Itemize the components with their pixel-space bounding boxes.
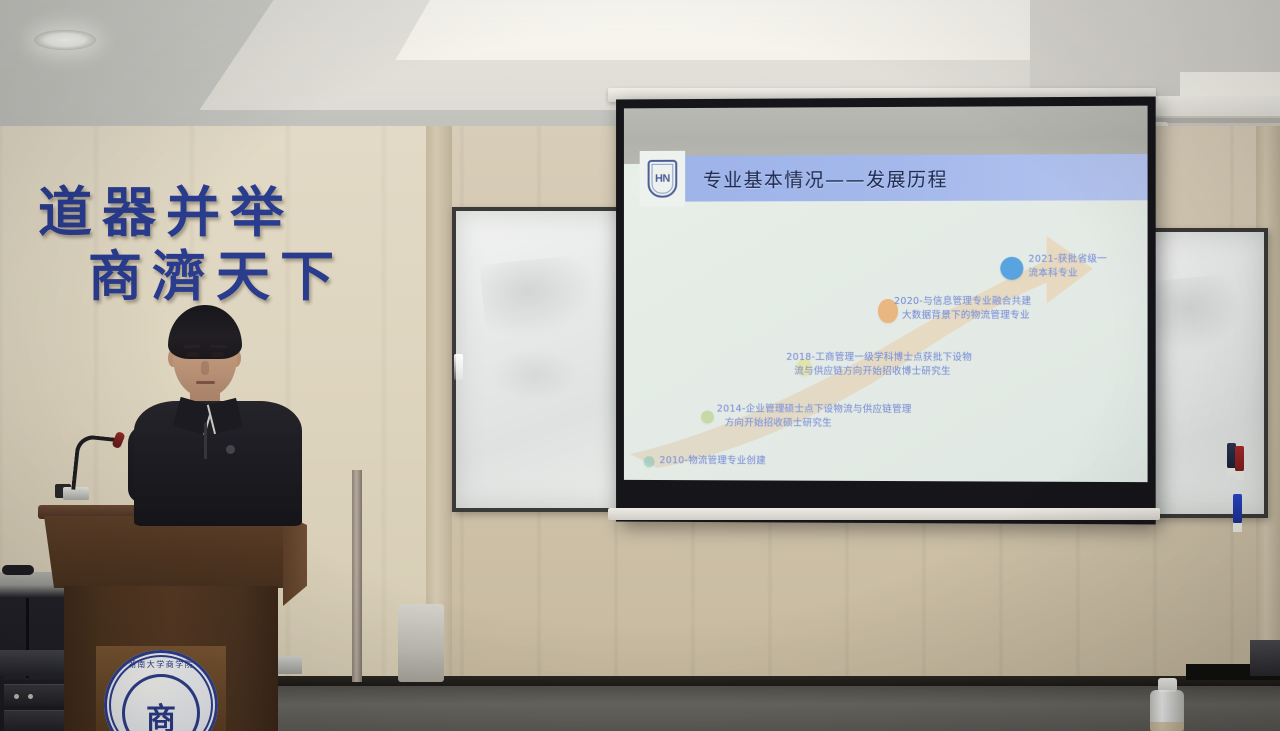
ceiling-downlight-icon (34, 30, 96, 50)
whiteboard-left[interactable] (452, 207, 628, 512)
water-bottle (1150, 678, 1184, 731)
eye (211, 352, 224, 357)
timeline-label-2014: 2014-企业管理硕士点下设物流与供应链管理 方向开始招收硕士研究生 (717, 403, 912, 430)
timeline-text-line2: 流本科专业 (1028, 266, 1107, 280)
av-led (28, 694, 33, 699)
projector-screen-bottom-bar (608, 508, 1160, 520)
podium-desk-surface (44, 516, 294, 588)
slide-logo: HN (640, 151, 685, 207)
lecture-hall-scene: 道器并举 商濟天下 专业基本情况——发展历程 HN (0, 0, 1280, 731)
red-marker-icon[interactable] (1235, 446, 1244, 472)
calligraphy-line-1: 道器并举 (30, 180, 390, 244)
whiteboard-smudge (1150, 273, 1247, 355)
timeline-text-line2: 方向开始招收硕士研究生 (717, 416, 912, 430)
timeline-label-2020: 2020-与信息管理专业融合共建 大数据背景下的物流管理专业 (894, 295, 1031, 322)
timeline-text-line2: 大数据背景下的物流管理专业 (894, 308, 1031, 322)
wall-calligraphy: 道器并举 商濟天下 (30, 180, 390, 320)
av-unit (4, 710, 64, 731)
timeline-dot-2014 (701, 411, 714, 424)
university-seal: 湖南大学商学院 商 (104, 650, 218, 731)
timeline-label-2010: 2010-物流管理专业创建 (659, 454, 765, 468)
whiteboard-glare (454, 354, 463, 380)
hn-shield-icon: HN (648, 160, 678, 198)
hair (168, 305, 242, 359)
nose (201, 361, 209, 375)
av-unit (4, 684, 64, 706)
timeline-dot-2010 (644, 456, 655, 467)
timeline-text-line1: 2014-企业管理硕士点下设物流与供应链管理 (717, 403, 912, 417)
seal-ring-text: 湖南大学商学院 (104, 659, 218, 670)
timeline-dot-2021 (1000, 257, 1023, 280)
timeline-text-line1: 2018-工商管理一级学科博士点获批下设物 (786, 351, 972, 365)
timeline-text: 2010-物流管理专业创建 (659, 454, 765, 468)
floor-object-right (1250, 640, 1280, 676)
seal-center-glyph: 商 (104, 694, 218, 731)
timeline-arrow-icon (624, 202, 1148, 482)
slide-title: 专业基本情况——发展历程 (703, 164, 948, 192)
eye (186, 352, 199, 357)
trash-bin (398, 604, 444, 682)
timeline-text-line2: 流与供应链方向开始招收博士研究生 (786, 364, 972, 378)
timeline-text-line1: 2021-获批省级一 (1028, 253, 1107, 267)
blue-marker-icon[interactable] (1233, 494, 1242, 524)
timeline-text-line1: 2020-与信息管理专业融合共建 (894, 295, 1031, 309)
remote-control[interactable] (2, 565, 34, 575)
timeline-graphic: 2010-物流管理专业创建 2014-企业管理硕士点下设物流与供应链管理 方向开… (624, 202, 1148, 482)
av-led (14, 694, 19, 699)
whiteboard-smudge (493, 348, 577, 401)
presenter (120, 305, 310, 520)
shirt-placket (204, 423, 207, 459)
calligraphy-line-2: 商濟天下 (30, 244, 390, 308)
timeline-label-2018: 2018-工商管理一级学科博士点获批下设物 流与供应链方向开始招收博士研究生 (786, 351, 972, 378)
timeline-label-2021: 2021-获批省级一 流本科专业 (1028, 253, 1107, 280)
slide-title-bar: 专业基本情况——发展历程 (640, 154, 1148, 202)
shirt-emblem (226, 445, 235, 454)
screen-surface: 专业基本情况——发展历程 HN (624, 106, 1148, 483)
whiteboard-smudge (479, 253, 601, 342)
bottle-label (1150, 722, 1184, 731)
wall-pillar-left (426, 126, 452, 686)
mouth (196, 381, 215, 384)
podium-plaque: 湖南大学商学院 商 (96, 646, 226, 731)
presentation-slide: 专业基本情况——发展历程 HN (624, 106, 1148, 483)
projection-screen[interactable]: 专业基本情况——发展历程 HN (616, 97, 1156, 525)
wall-pipe (352, 470, 362, 682)
